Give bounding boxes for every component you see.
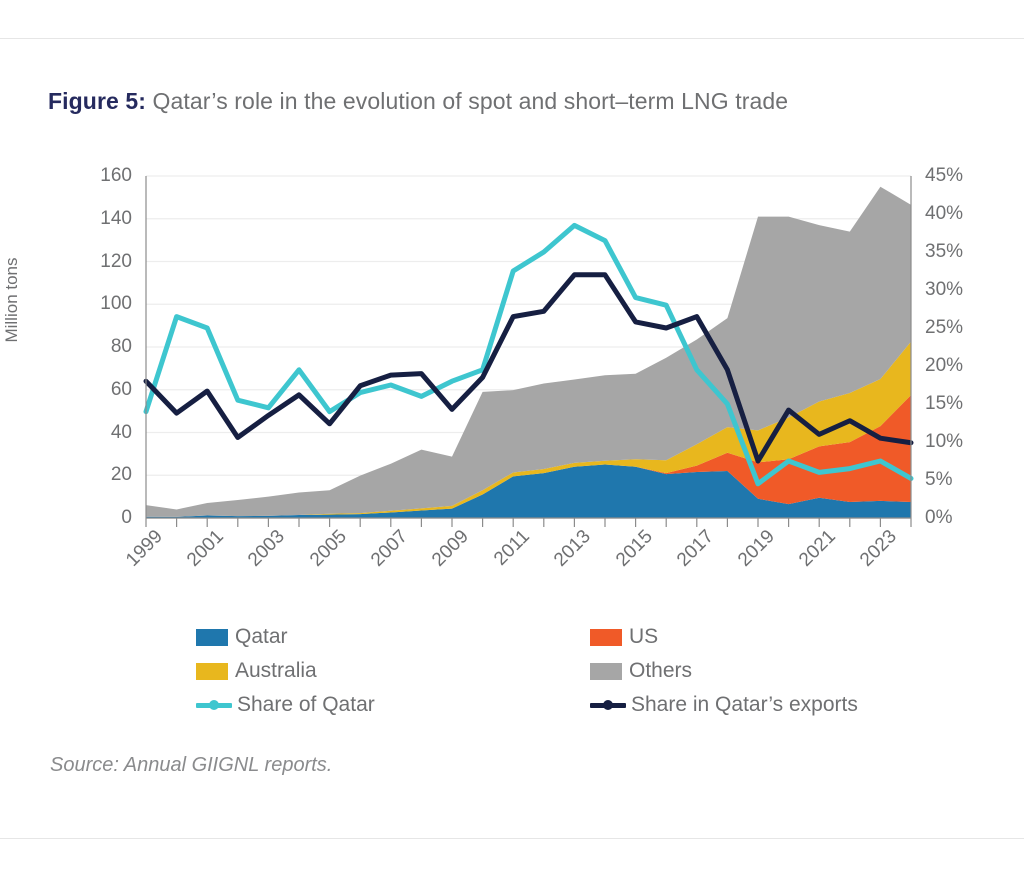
legend-item[interactable]: Share in Qatar’s exports <box>590 692 858 718</box>
y-axis-right-tick-label: 20% <box>925 355 963 377</box>
legend-item[interactable]: Qatar <box>196 624 288 650</box>
legend-item[interactable]: Others <box>590 658 692 684</box>
legend-label: Share of Qatar <box>237 693 375 717</box>
legend-label: US <box>629 625 658 649</box>
legend-swatch-icon <box>590 629 622 646</box>
x-axis-tick-label: 1999 <box>110 526 168 584</box>
chart-container: Million tons 020406080100120140160 0%5%1… <box>0 150 1024 550</box>
y-axis-right-tick-label: 10% <box>925 431 963 453</box>
y-axis-left-tick-label: 100 <box>100 293 132 315</box>
figure-title-text: Qatar’s role in the evolution of spot an… <box>153 88 789 114</box>
x-axis-tick-label: 2011 <box>477 526 535 584</box>
y-axis-left-tick-label: 80 <box>111 336 132 358</box>
legend-line-icon <box>196 698 232 712</box>
legend-label: Share in Qatar’s exports <box>631 693 858 717</box>
legend-item[interactable]: Australia <box>196 658 317 684</box>
y-axis-right-tick-label: 40% <box>925 203 963 225</box>
x-axis-tick-label: 2023 <box>844 526 902 584</box>
legend-label: Others <box>629 659 692 683</box>
y-axis-right-tick-label: 15% <box>925 393 963 415</box>
x-axis-tick-label: 2005 <box>293 526 351 584</box>
legend-swatch-icon <box>196 629 228 646</box>
y-axis-left-tick-label: 140 <box>100 208 132 230</box>
legend-item[interactable]: US <box>590 624 658 650</box>
x-axis-tick-label: 2003 <box>232 526 290 584</box>
y-axis-right-tick-label: 25% <box>925 317 963 339</box>
legend-swatch-icon <box>196 663 228 680</box>
y-axis-left-tick-label: 20 <box>111 464 132 486</box>
y-axis-left-tick-label: 120 <box>100 251 132 273</box>
y-axis-right-tick-label: 45% <box>925 165 963 187</box>
y-axis-right-tick-label: 30% <box>925 279 963 301</box>
y-axis-left-tick-label: 160 <box>100 165 132 187</box>
chart-legend: QatarUSAustraliaOthersShare of QatarShar… <box>196 624 916 728</box>
legend-item[interactable]: Share of Qatar <box>196 692 375 718</box>
x-axis-tick-label: 2013 <box>538 526 596 584</box>
chart-plot-svg <box>146 176 911 518</box>
stacked-areas <box>146 187 911 518</box>
y-axis-left-ticks: 020406080100120140160 <box>56 176 132 518</box>
legend-label: Australia <box>235 659 317 683</box>
y-axis-right-tick-label: 5% <box>925 469 952 491</box>
x-axis-tick-label: 2015 <box>599 526 657 584</box>
x-axis-tick-label: 2009 <box>416 526 474 584</box>
x-axis-tick-label: 2001 <box>171 526 229 584</box>
y-axis-right-tick-label: 35% <box>925 241 963 263</box>
source-note: Source: Annual GIIGNL reports. <box>50 754 332 777</box>
legend-line-icon <box>590 698 626 712</box>
y-axis-left-tick-label: 40 <box>111 422 132 444</box>
x-axis-ticks: 1999200120032005200720092011201320152017… <box>0 526 1024 616</box>
y-axis-right-ticks: 0%5%10%15%20%25%30%35%40%45% <box>925 176 1011 518</box>
page-divider-top <box>0 38 1024 39</box>
figure-number: Figure 5: <box>48 88 146 114</box>
x-axis-tick-label: 2007 <box>354 526 412 584</box>
y-axis-title: Million tons <box>2 180 22 420</box>
legend-swatch-icon <box>590 663 622 680</box>
legend-label: Qatar <box>235 625 288 649</box>
x-axis-tick-label: 2021 <box>783 526 841 584</box>
plot-area <box>146 176 911 518</box>
figure-title: Figure 5: Qatar’s role in the evolution … <box>48 88 788 115</box>
x-axis-tick-label: 2019 <box>722 526 780 584</box>
page-divider-bottom <box>0 838 1024 839</box>
y-axis-left-tick-label: 60 <box>111 379 132 401</box>
x-axis-tick-label: 2017 <box>660 526 718 584</box>
